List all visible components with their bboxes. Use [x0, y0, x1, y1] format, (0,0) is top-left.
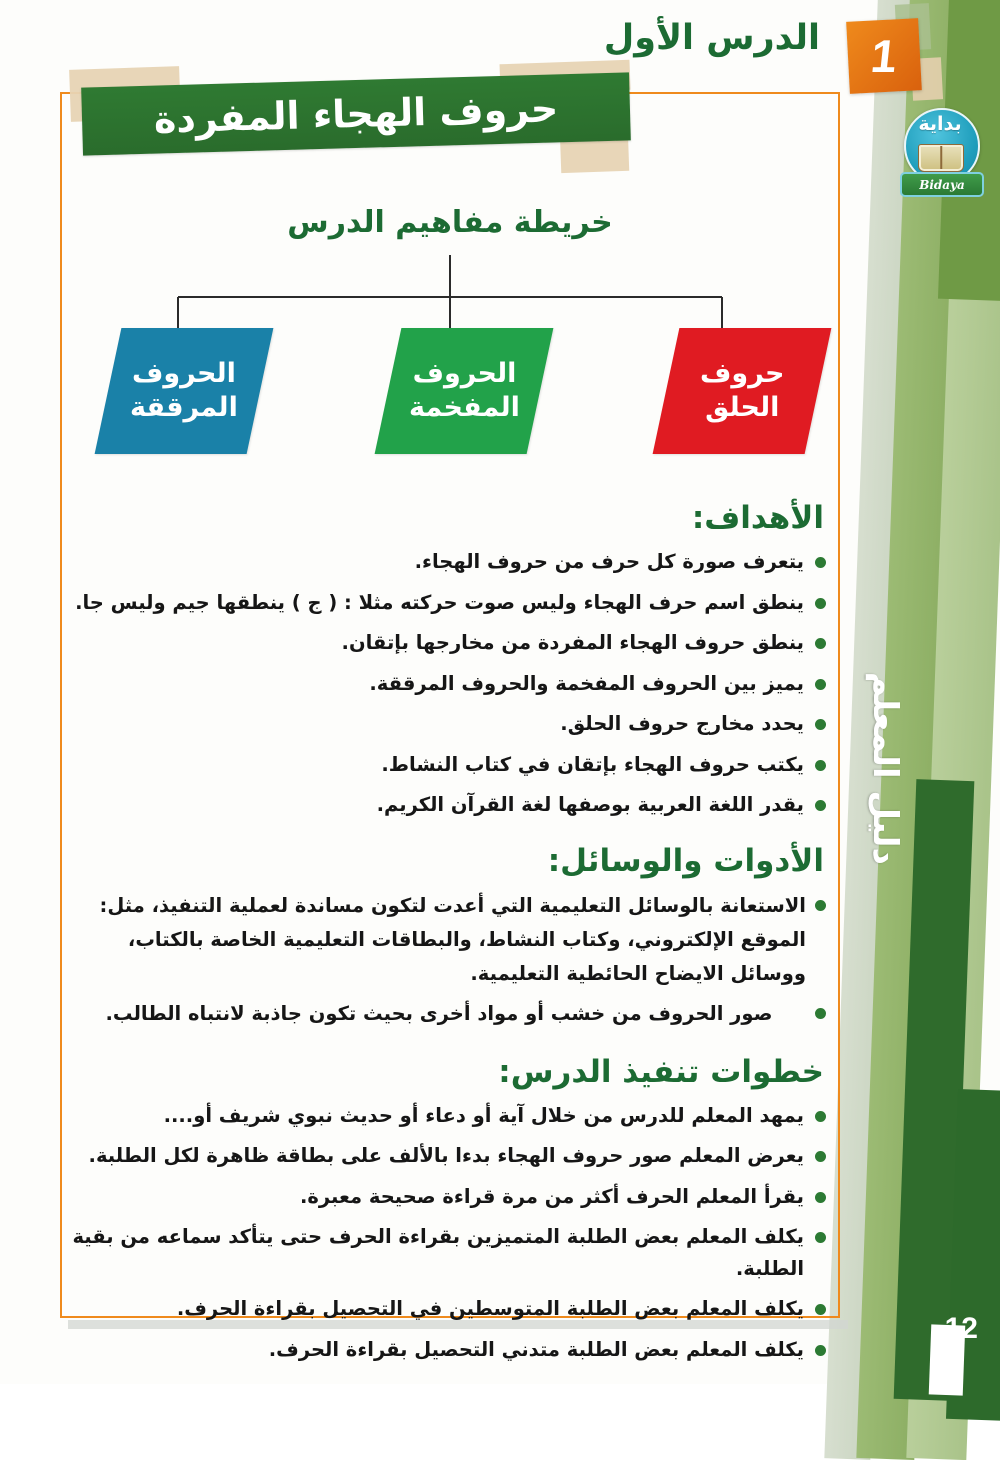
sidebar-vertical-label: دليل المعلم: [865, 545, 905, 865]
list-item: يكلف المعلم بعض الطلبة متدني التحصيل بقر…: [72, 1334, 828, 1366]
lesson-label: الدرس الأول: [604, 18, 820, 58]
concept-node-label: الحروف المرققة: [130, 357, 238, 425]
concept-node-throat-letters[interactable]: حروف الحلق: [653, 328, 832, 454]
concept-map: خريطة مفاهيم الدرس حروف الحلق الحروف الم…: [60, 205, 840, 480]
concept-node-label: الحروف المفخمة: [409, 357, 520, 425]
list-item: يعرض المعلم صور حروف الهجاء بدءا بالألف …: [72, 1140, 828, 1172]
section-heading-steps: خطوات تنفيذ الدرس:: [72, 1054, 828, 1090]
list-item: يحدد مخارج حروف الحلق.: [72, 708, 828, 740]
list-item: ينطق حروف الهجاء المفردة من مخارجها بإتق…: [72, 627, 828, 659]
concept-node-emphatic-letters[interactable]: الحروف المفخمة: [375, 328, 554, 454]
list-item: يتعرف صورة كل حرف من حروف الهجاء.: [72, 546, 828, 578]
list-item: الاستعانة بالوسائل التعليمية التي أعدت ل…: [72, 889, 828, 991]
lesson-number-badge: 1: [846, 18, 922, 94]
open-book-icon: [918, 144, 964, 172]
steps-list: يمهد المعلم للدرس من خلال آية أو دعاء أو…: [72, 1100, 828, 1366]
tools-list: الاستعانة بالوسائل التعليمية التي أعدت ل…: [72, 889, 828, 1032]
list-item: يميز بين الحروف المفخمة والحروف المرققة.: [72, 668, 828, 700]
logo-latin-name: Bidaya: [900, 172, 984, 197]
list-item: ينطق اسم حرف الهجاء وليس صوت حركته مثلا …: [72, 587, 828, 619]
bidaya-logo: بداية Bidaya: [898, 108, 982, 200]
page-number: 12: [945, 1312, 978, 1346]
list-item: يكلف المعلم بعض الطلبة المتميزين بقراءة …: [72, 1221, 828, 1284]
lesson-number-text: 1: [844, 20, 924, 92]
concept-node-thin-letters[interactable]: الحروف المرققة: [95, 328, 274, 454]
list-item: يقرأ المعلم الحرف أكثر من مرة قراءة صحيح…: [72, 1181, 828, 1213]
list-item: يقدر اللغة العربية بوصفها لغة القرآن الك…: [72, 789, 828, 821]
logo-arabic-name: بداية: [904, 113, 976, 135]
list-item: يكتب حروف الهجاء بإتقان في كتاب النشاط.: [72, 749, 828, 781]
section-heading-objectives: الأهداف:: [72, 500, 828, 536]
list-item: صور الحروف من خشب أو مواد أخرى بحيث تكون…: [72, 997, 828, 1031]
list-item: يكلف المعلم بعض الطلبة المتوسطين في التح…: [72, 1293, 828, 1325]
lesson-content: الأهداف: يتعرف صورة كل حرف من حروف الهجا…: [72, 500, 828, 1375]
objectives-list: يتعرف صورة كل حرف من حروف الهجاء. ينطق ا…: [72, 546, 828, 821]
list-item: يمهد المعلم للدرس من خلال آية أو دعاء أو…: [72, 1100, 828, 1132]
concept-node-label: حروف الحلق: [700, 357, 784, 425]
section-heading-tools: الأدوات والوسائل:: [72, 843, 828, 879]
concept-map-nodes: حروف الحلق الحروف المفخمة الحروف المرققة: [60, 328, 840, 458]
